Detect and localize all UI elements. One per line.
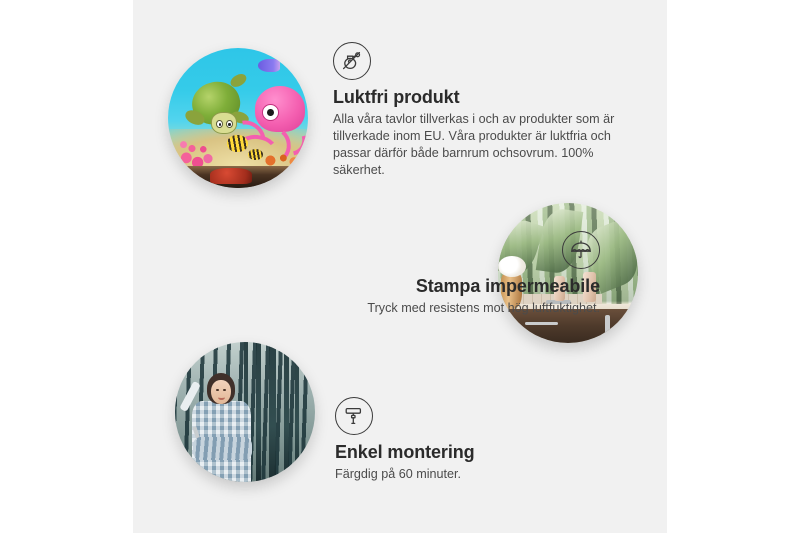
tree-trunk	[295, 342, 299, 482]
woman-eye	[223, 389, 226, 391]
tree-trunk	[284, 342, 289, 482]
screenshot-stage: Luktfri produkt Alla våra tavlor tillver…	[0, 0, 800, 533]
tree-trunk	[269, 342, 276, 482]
woman-face	[211, 380, 231, 404]
content-panel: Luktfri produkt Alla våra tavlor tillver…	[133, 0, 667, 533]
tree-trunk	[256, 342, 261, 482]
yellow-fish	[227, 135, 248, 152]
feature-waterproof-print: Stampa impermeabile Tryck med resistens …	[220, 231, 600, 317]
photo-ocean-kids-mural	[168, 48, 308, 188]
feature-title: Enkel montering	[335, 442, 635, 463]
octopus-eye	[262, 104, 279, 121]
feature-easy-assembly: Enkel montering Färgdig på 60 minuter.	[335, 397, 635, 483]
yellow-fish	[248, 149, 263, 160]
blue-fish	[258, 59, 280, 72]
umbrella-icon	[562, 231, 600, 269]
no-fragrance-icon	[333, 42, 371, 80]
orange-coral	[263, 143, 299, 168]
photo-painter-forest-mural	[175, 342, 315, 482]
feature-description: Färgdig på 60 minuter.	[335, 466, 635, 483]
paint-roller-icon	[335, 397, 373, 435]
turtle-eye	[216, 120, 223, 129]
woman-smile	[218, 395, 225, 400]
ocean-foreground-floor	[168, 166, 308, 188]
feature-odour-free: Luktfri produkt Alla våra tavlor tillver…	[333, 42, 633, 179]
feature-title: Luktfri produkt	[333, 87, 633, 108]
woman-eye	[216, 389, 219, 391]
pink-coral	[176, 129, 222, 168]
feature-description: Tryck med resistens mot hög luftfuktighe…	[220, 300, 600, 317]
feature-title: Stampa impermeabile	[220, 276, 600, 297]
feature-description: Alla våra tavlor tillverkas i och av pro…	[333, 111, 633, 179]
woman-crossed-arms	[193, 437, 252, 459]
